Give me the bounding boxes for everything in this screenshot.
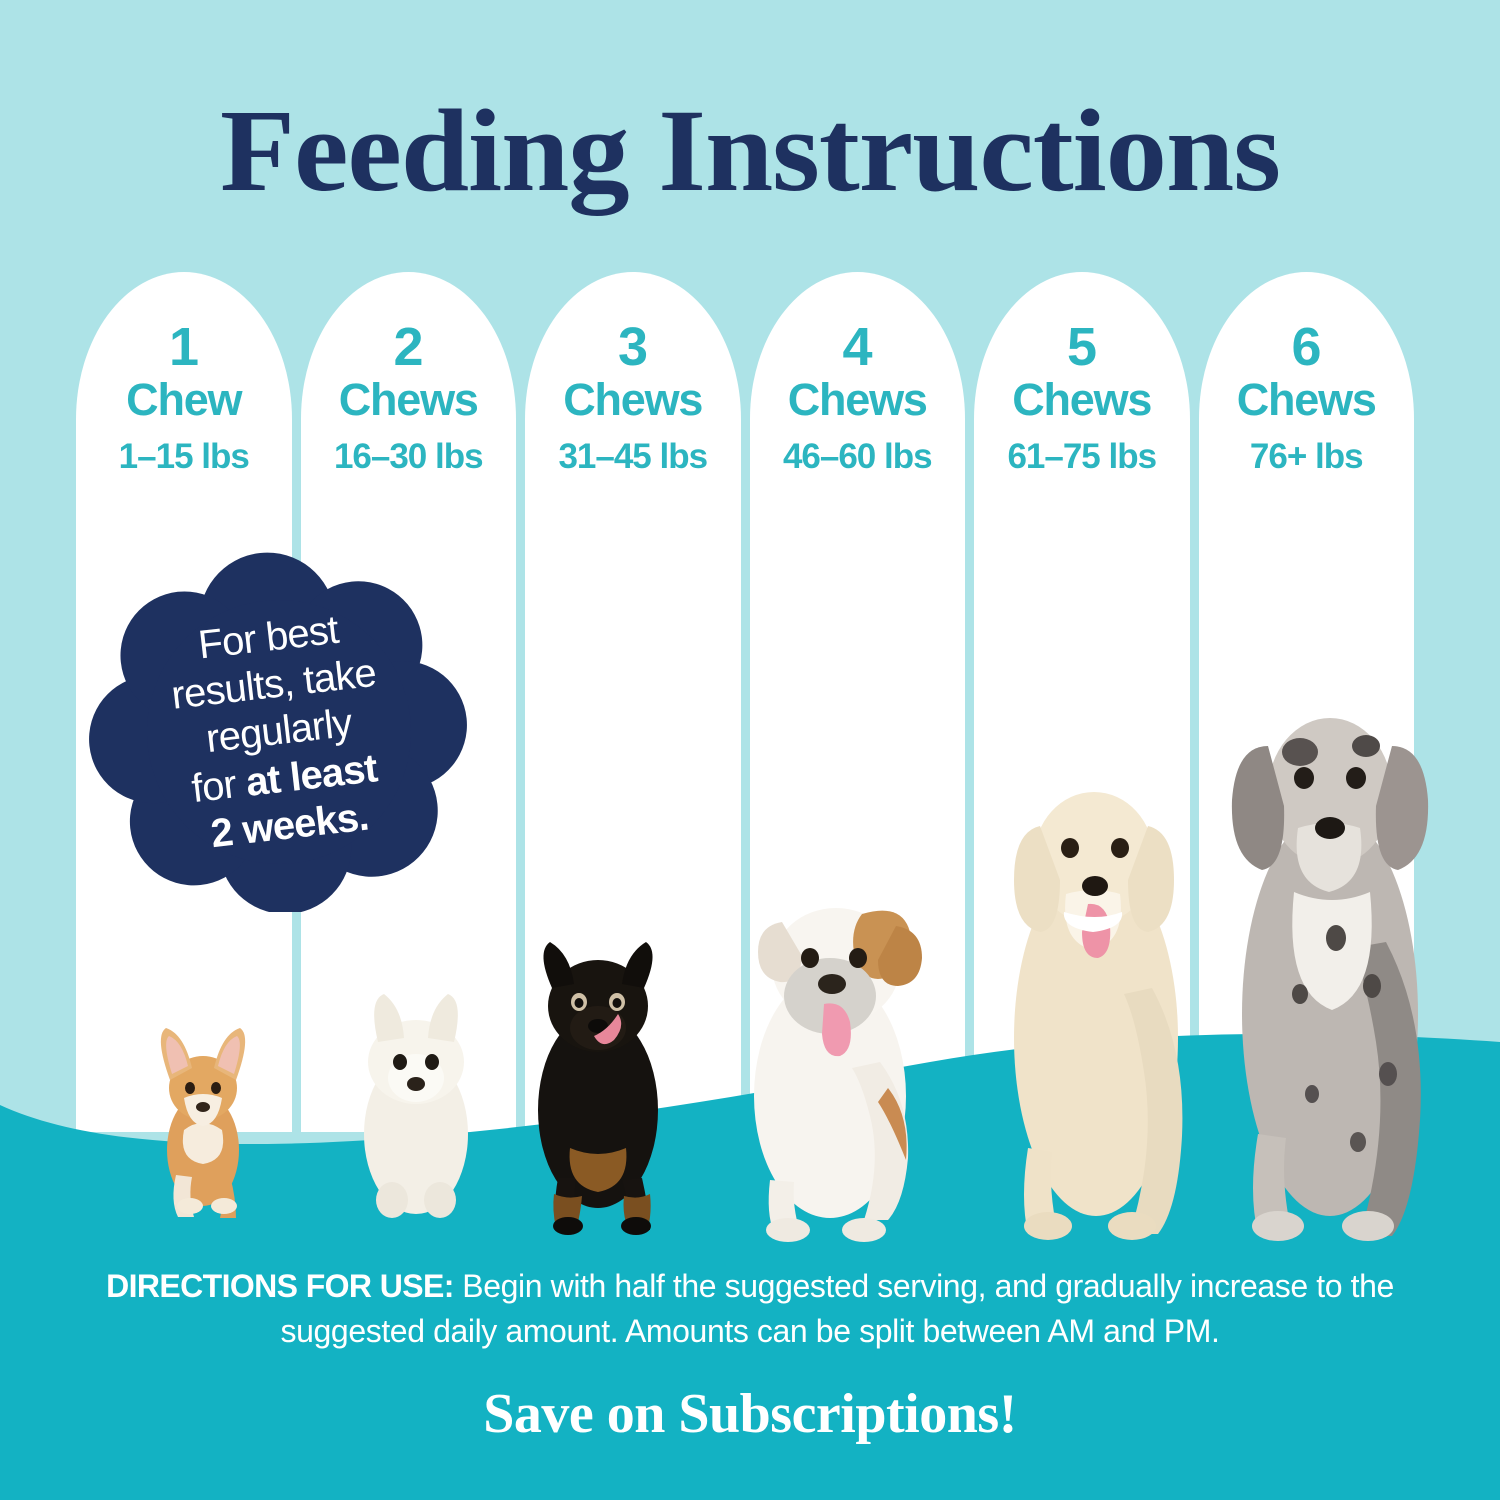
subscription-cta: Save on Subscriptions! <box>0 1382 1500 1446</box>
dosage-weight-range: 46–60 lbs <box>750 437 966 477</box>
directions-label: DIRECTIONS FOR USE: <box>106 1268 454 1304</box>
dosage-column-3-text: 3 Chews 31–45 lbs <box>525 320 741 477</box>
dosage-column-6: 6 Chews 76+ lbs <box>1199 272 1415 1132</box>
dosage-column-5-text: 5 Chews 61–75 lbs <box>974 320 1190 477</box>
dosage-column-2-text: 2 Chews 16–30 lbs <box>301 320 517 477</box>
dosage-column-4-text: 4 Chews 46–60 lbs <box>750 320 966 477</box>
dosage-column-5: 5 Chews 61–75 lbs <box>974 272 1190 1132</box>
dosage-weight-range: 16–30 lbs <box>301 437 517 477</box>
dosage-column-4: 4 Chews 46–60 lbs <box>750 272 966 1132</box>
dosage-weight-range: 61–75 lbs <box>974 437 1190 477</box>
dosage-count: 1 <box>76 320 292 375</box>
badge-line-4-prefix: for <box>189 761 248 811</box>
dosage-weight-range: 76+ lbs <box>1199 437 1415 477</box>
dosage-count: 5 <box>974 320 1190 375</box>
dosage-unit: Chews <box>974 375 1190 425</box>
best-results-badge: For best results, take regularly for at … <box>88 552 470 912</box>
dosage-unit: Chews <box>1199 375 1415 425</box>
dosage-column-3: 3 Chews 31–45 lbs <box>525 272 741 1132</box>
directions-for-use: DIRECTIONS FOR USE: Begin with half the … <box>60 1264 1440 1355</box>
dosage-unit: Chews <box>525 375 741 425</box>
dosage-count: 2 <box>301 320 517 375</box>
dosage-count: 3 <box>525 320 741 375</box>
infographic-canvas: Feeding Instructions 1 Chew 1–15 lbs 2 C… <box>0 0 1500 1500</box>
dosage-unit: Chews <box>301 375 517 425</box>
dosage-column-1-text: 1 Chew 1–15 lbs <box>76 320 292 477</box>
dosage-count: 4 <box>750 320 966 375</box>
dosage-weight-range: 31–45 lbs <box>525 437 741 477</box>
dosage-unit: Chews <box>750 375 966 425</box>
dosage-weight-range: 1–15 lbs <box>76 437 292 477</box>
best-results-badge-text: For best results, take regularly for at … <box>69 532 489 933</box>
dosage-unit: Chew <box>76 375 292 425</box>
page-title: Feeding Instructions <box>0 92 1500 210</box>
dosage-column-6-text: 6 Chews 76+ lbs <box>1199 320 1415 477</box>
dosage-count: 6 <box>1199 320 1415 375</box>
